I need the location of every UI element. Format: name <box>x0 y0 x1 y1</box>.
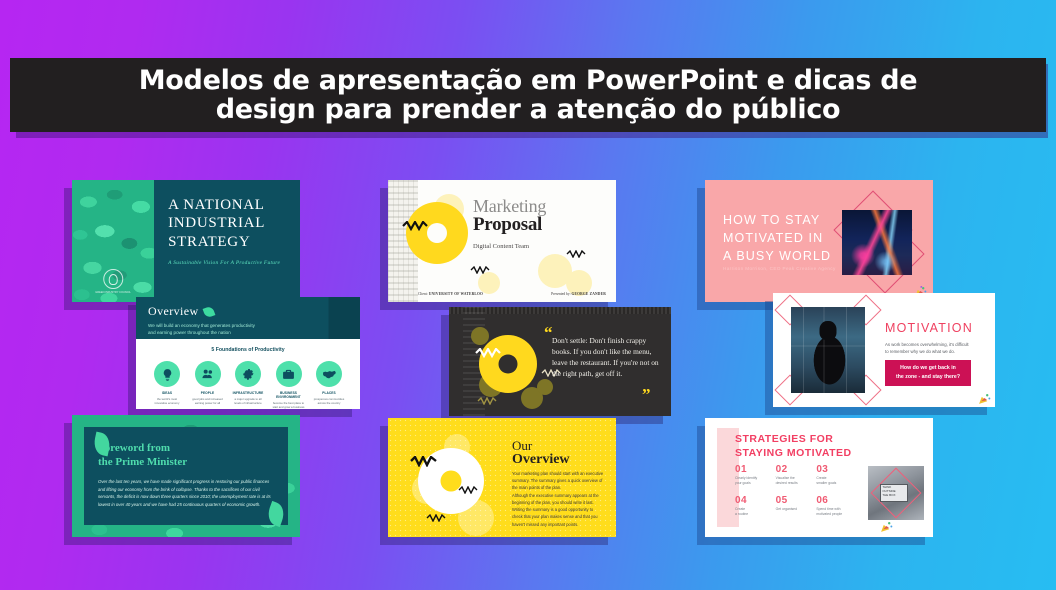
motivation-callout-text: How do we get back in the zone - and sta… <box>896 364 960 381</box>
leaf-pattern-background: GREEN INDUSTRY COUNCIL <box>72 180 154 302</box>
slide-motivation[interactable]: MOTIVATION As work becomes overwhelming,… <box>773 293 995 407</box>
strategy-number: 03 <box>816 464 853 475</box>
motivation-paragraph: As work becomes overwhelming, it's diffi… <box>885 341 971 356</box>
strategy-label: Spend time with motivated people <box>816 507 853 518</box>
foundations-list: IDEAS the world's most innovative econom… <box>144 361 352 409</box>
title-line-2: Overview <box>512 452 570 468</box>
strategy-number: 01 <box>735 464 772 475</box>
foundation-text: become the best place to start and grow … <box>270 401 308 409</box>
overview-title: Overview <box>148 304 199 319</box>
zigzag-icon <box>475 348 507 358</box>
slide-overview-foundations[interactable]: Overview We will build an economy that g… <box>136 297 360 409</box>
slide-title: A NATIONAL INDUSTRIAL STRATEGY <box>168 196 288 251</box>
strategy-number: 02 <box>776 464 813 475</box>
foundation-name: INFRASTRUCTURE <box>229 391 267 395</box>
decor-circle <box>537 379 553 395</box>
overview-title-row: Overview <box>148 304 348 319</box>
foundation-item-infrastructure: INFRASTRUCTURE a major upgrade to all le… <box>229 361 267 409</box>
slide-quote[interactable]: “ Don't settle: Don't finish crappy book… <box>449 307 671 416</box>
confetti-icon <box>880 520 893 533</box>
overview-description: We will build an economy that generates … <box>148 323 348 337</box>
foundation-name: PEOPLE <box>189 391 227 395</box>
lightbulb-icon <box>154 361 180 387</box>
presenter-label: Presented by: <box>551 292 570 296</box>
lightbulb-icon <box>103 269 123 289</box>
leaf-icon <box>202 305 215 318</box>
strategy-item: 04 Create a routine <box>735 495 772 518</box>
city-night-photo <box>842 210 912 275</box>
slide-text-panel: A NATIONAL INDUSTRIAL STRATEGY A Sustain… <box>154 180 300 302</box>
gear-icon <box>235 361 261 387</box>
briefcase-icon <box>276 361 302 387</box>
page-title: Modelos de apresentação em PowerPoint e … <box>125 66 932 124</box>
silhouette-head <box>820 321 837 340</box>
strategy-item: 05 Get organised <box>776 495 813 518</box>
foreword-body: Over the last ten years, we have made si… <box>98 478 274 510</box>
strategy-item: 01 Clearly identify your goals <box>735 464 772 487</box>
foundation-item-ideas: IDEAS the world's most innovative econom… <box>148 361 186 409</box>
marketing-footer: Client: UNIVERSITY OF WATERLOO Presented… <box>418 292 606 296</box>
presenter-value: GEORGE ZANDER <box>572 292 606 296</box>
client-value: UNIVERSITY OF WATERLOO <box>429 292 483 296</box>
slide-subtitle: A Sustainable Vision For A Productive Fu… <box>168 260 288 266</box>
photo-sign-text: THINK OUTSIDE THE BOX <box>880 484 908 501</box>
foreword-title: Foreword from the Prime Minister <box>98 441 274 470</box>
slide-our-overview[interactable]: Our Overview Your marketing plan should … <box>388 418 616 537</box>
strategy-number: 05 <box>776 495 813 506</box>
quote-text: Don't settle: Don't finish crappy books.… <box>552 335 660 379</box>
slide-how-to-stay-motivated[interactable]: HOW TO STAY MOTIVATED IN A BUSY WORLD Ha… <box>705 180 933 302</box>
slide-foreword-prime-minister[interactable]: Foreword from the Prime Minister Over th… <box>72 415 300 537</box>
client-label: Client: <box>418 292 428 296</box>
slide-strategies-for-staying-motivated[interactable]: STRATEGIES FOR STAYING MOTIVATED 01 Clea… <box>705 418 933 537</box>
think-outside-the-box-photo: THINK OUTSIDE THE BOX <box>868 466 924 520</box>
our-overview-paragraph-2: Although the executive summary appears a… <box>512 492 604 528</box>
foundation-item-business-environment: BUSINESS ENVIRONMENT become the best pla… <box>270 361 308 409</box>
strategy-item: 06 Spend time with motivated people <box>816 495 853 518</box>
strategy-label: Visualise the desired results <box>776 476 813 487</box>
foundation-item-places: PLACES prosperous communities across the… <box>310 361 348 409</box>
marketing-subtitle: Digital Content Team <box>473 243 546 250</box>
donut-shape <box>406 202 468 264</box>
foundation-text: the world's most innovative economy <box>148 397 186 405</box>
decor-circle <box>471 327 489 345</box>
motivation-callout-box: How do we get back in the zone - and sta… <box>885 360 971 386</box>
foundation-item-people: PEOPLE good jobs and increased earning p… <box>189 361 227 409</box>
slide-marketing-proposal[interactable]: Marketing Proposal Digital Content Team … <box>388 180 616 302</box>
marketing-title-block: Marketing Proposal Digital Content Team <box>473 196 546 250</box>
foundation-text: prosperous communities across the countr… <box>310 397 348 405</box>
foundation-name: PLACES <box>310 391 348 395</box>
overview-header: Overview We will build an economy that g… <box>136 297 360 339</box>
foundation-name: BUSINESS ENVIRONMENT <box>270 391 308 399</box>
client-info: Client: UNIVERSITY OF WATERLOO <box>418 292 483 296</box>
donut-shape <box>479 335 537 393</box>
council-logo-label: GREEN INDUSTRY COUNCIL <box>95 291 131 294</box>
strategy-label: Get organised <box>776 507 813 512</box>
strategy-number: 04 <box>735 495 772 506</box>
strategies-grid: 01 Clearly identify your goals 02 Visual… <box>735 464 853 517</box>
strategy-item: 03 Create smaller goals <box>816 464 853 487</box>
close-quote-mark: ” <box>642 385 651 405</box>
overview-body: 5 Foundations of Productivity IDEAS the … <box>136 339 360 409</box>
zigzag-icon <box>402 221 434 231</box>
strategy-label: Create a routine <box>735 507 772 518</box>
strategies-title: STRATEGIES FOR STAYING MOTIVATED <box>735 432 852 460</box>
map-icon <box>316 361 342 387</box>
zigzag-icon <box>410 456 444 467</box>
strategy-label: Clearly identify your goals <box>735 476 772 487</box>
foundation-text: a major upgrade to all levels of infrast… <box>229 397 267 405</box>
motivation-title: MOTIVATION <box>885 321 973 335</box>
foundation-text: good jobs and increased earning power fo… <box>189 397 227 405</box>
zigzag-icon <box>426 514 452 522</box>
slide-subtitle: Harrison Morrison, CEO Peak Creative Age… <box>723 266 836 271</box>
title-line-2: Proposal <box>473 214 546 236</box>
people-icon <box>195 361 221 387</box>
man-silhouette-photo <box>791 307 865 393</box>
zigzag-icon <box>470 266 496 274</box>
our-overview-paragraph-1: Your marketing plan should start with an… <box>512 470 604 491</box>
slide-national-industrial-strategy[interactable]: GREEN INDUSTRY COUNCIL A NATIONAL INDUST… <box>72 180 300 302</box>
confetti-icon <box>978 392 991 405</box>
zigzag-icon <box>566 250 592 258</box>
title-banner: Modelos de apresentação em PowerPoint e … <box>10 58 1046 132</box>
foundation-name: IDEAS <box>148 391 186 395</box>
foreword-card: Foreword from the Prime Minister Over th… <box>84 427 288 525</box>
presenter-info: Presented by: GEORGE ZANDER <box>551 292 606 296</box>
overview-section-title: 5 Foundations of Productivity <box>144 347 352 353</box>
slide-title: HOW TO STAY MOTIVATED IN A BUSY WORLD <box>723 212 831 265</box>
our-overview-title-block: Our Overview <box>512 438 570 468</box>
strategy-number: 06 <box>816 495 853 506</box>
strategy-item: 02 Visualise the desired results <box>776 464 813 487</box>
zigzag-icon <box>458 486 484 494</box>
council-logo: GREEN INDUSTRY COUNCIL <box>95 269 131 294</box>
strategy-label: Create smaller goals <box>816 476 853 487</box>
zigzag-icon <box>477 397 501 405</box>
decor-circle <box>478 272 500 294</box>
